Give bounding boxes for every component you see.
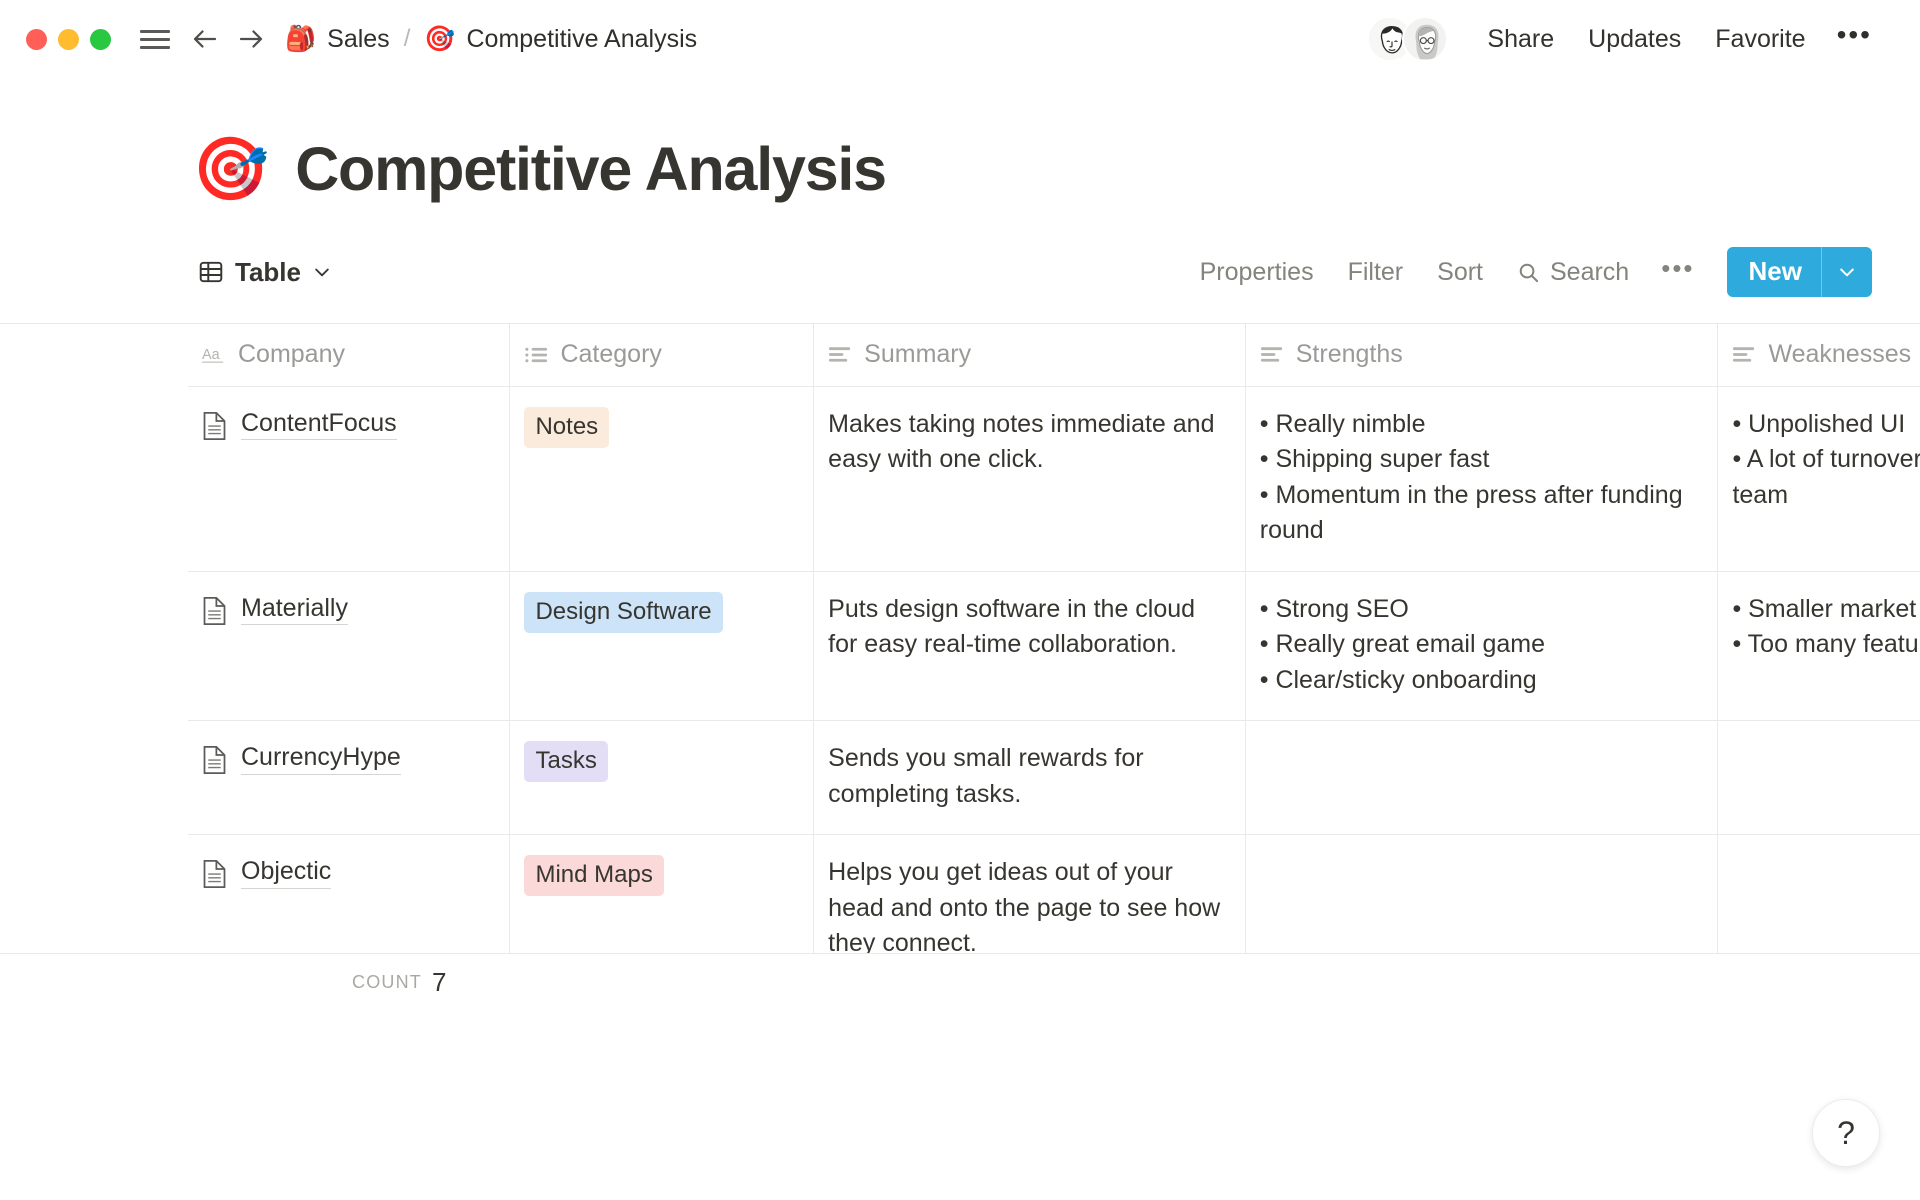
page-dartboard-icon[interactable]: 🎯 <box>192 139 269 201</box>
cell-category[interactable]: Design Software <box>510 571 814 721</box>
database-toolbar: Table Properties Filter Sort Search ••• <box>0 203 1920 297</box>
search-icon <box>1517 261 1540 284</box>
avatar-face-icon <box>1404 18 1448 62</box>
properties-button[interactable]: Properties <box>1186 251 1328 294</box>
count-label: Count <box>352 972 422 993</box>
cell-weaknesses[interactable]: • Smaller market • Too many features for… <box>1718 571 1920 721</box>
breadcrumb-item-competitive-analysis[interactable]: 🎯 Competitive Analysis <box>424 25 697 54</box>
category-tag: Notes <box>524 407 609 448</box>
text-lines-icon <box>1260 344 1285 366</box>
column-header-summary[interactable]: Summary <box>814 324 1246 386</box>
table-header: Aa Company <box>188 324 1920 386</box>
sort-button[interactable]: Sort <box>1423 251 1497 294</box>
breadcrumb-separator: / <box>402 25 413 53</box>
minimize-window-button[interactable] <box>58 29 79 50</box>
title-text-icon: Aa <box>202 344 227 366</box>
cell-company[interactable]: ContentFocus <box>188 386 510 571</box>
new-record-label: New <box>1727 247 1821 297</box>
table-row[interactable]: Materially Design Software Puts design s… <box>188 571 1920 721</box>
search-button[interactable]: Search <box>1503 251 1643 294</box>
cell-summary[interactable]: Sends you small rewards for completing t… <box>814 721 1246 835</box>
topbar-actions: Share Updates Favorite ••• <box>1367 16 1886 62</box>
column-header-company[interactable]: Aa Company <box>188 324 510 386</box>
chevron-down-icon <box>1837 262 1857 282</box>
zoom-window-button[interactable] <box>90 29 111 50</box>
database-table-container: Aa Company <box>0 323 1920 1011</box>
arrow-right-icon <box>236 24 266 54</box>
column-header-weaknesses[interactable]: Weaknesses <box>1718 324 1920 386</box>
page-content: 🎯 Competitive Analysis Table Properties … <box>0 78 1920 1011</box>
cell-company[interactable]: Materially <box>188 571 510 721</box>
updates-button[interactable]: Updates <box>1571 17 1698 62</box>
cell-strengths[interactable] <box>1245 721 1718 835</box>
count-value: 7 <box>432 967 446 998</box>
breadcrumb-label-sales: Sales <box>327 25 390 54</box>
breadcrumb: 🎒 Sales / 🎯 Competitive Analysis <box>285 25 697 54</box>
database-table: Aa Company <box>188 324 1920 1011</box>
cell-weaknesses[interactable]: • Unpolished UI • A lot of turnover on t… <box>1718 386 1920 571</box>
cell-strengths[interactable]: • Strong SEO • Really great email game •… <box>1245 571 1718 721</box>
column-label-company: Company <box>238 340 345 369</box>
cell-strengths[interactable]: • Really nimble • Shipping super fast • … <box>1245 386 1718 571</box>
table-row[interactable]: ContentFocus Notes Makes taking notes im… <box>188 386 1920 571</box>
column-header-strengths[interactable]: Strengths <box>1245 324 1718 386</box>
window-titlebar: 🎒 Sales / 🎯 Competitive Analysis <box>0 0 1920 78</box>
table-body: ContentFocus Notes Makes taking notes im… <box>188 386 1920 1011</box>
page-icon <box>202 745 227 775</box>
text-lines-icon <box>1732 344 1757 366</box>
table-header-row: Aa Company <box>188 324 1920 386</box>
toolbar-more-button[interactable]: ••• <box>1649 257 1706 287</box>
column-label-weaknesses: Weaknesses <box>1768 340 1911 369</box>
cell-weaknesses[interactable] <box>1718 721 1920 835</box>
sidebar-toggle-button[interactable] <box>135 19 175 59</box>
page-title[interactable]: Competitive Analysis <box>295 136 886 203</box>
avatar-user-2[interactable] <box>1402 16 1448 62</box>
company-link[interactable]: ContentFocus <box>241 407 397 441</box>
company-link[interactable]: Objectic <box>241 855 331 889</box>
category-tag: Tasks <box>524 741 607 782</box>
table-icon <box>198 259 224 285</box>
breadcrumb-item-sales[interactable]: 🎒 Sales <box>285 25 390 54</box>
column-label-category: Category <box>560 340 661 369</box>
cell-category[interactable]: Tasks <box>510 721 814 835</box>
cell-summary[interactable]: Makes taking notes immediate and easy wi… <box>814 386 1246 571</box>
view-tab-label: Table <box>235 257 301 288</box>
table-footer: Count 7 <box>0 953 1920 1011</box>
page-icon <box>202 411 227 441</box>
page-header: 🎯 Competitive Analysis <box>0 78 1920 203</box>
new-record-button[interactable]: New <box>1727 247 1872 297</box>
chevron-down-icon <box>312 262 332 282</box>
app-window: 🎒 Sales / 🎯 Competitive Analysis <box>0 0 1920 1200</box>
cell-category[interactable]: Notes <box>510 386 814 571</box>
search-label: Search <box>1550 258 1629 287</box>
page-icon <box>202 596 227 626</box>
toolbar-actions: Properties Filter Sort Search ••• New <box>1186 247 1872 297</box>
back-button[interactable] <box>185 19 225 59</box>
share-button[interactable]: Share <box>1470 17 1571 62</box>
company-link[interactable]: CurrencyHype <box>241 741 401 775</box>
category-tag: Design Software <box>524 592 722 633</box>
help-button[interactable]: ? <box>1812 1099 1880 1167</box>
column-label-strengths: Strengths <box>1296 340 1403 369</box>
select-list-icon <box>524 344 549 366</box>
column-header-category[interactable]: Category <box>510 324 814 386</box>
traffic-lights <box>26 29 111 50</box>
cell-company[interactable]: CurrencyHype <box>188 721 510 835</box>
company-link[interactable]: Materially <box>241 592 348 626</box>
view-tab-table[interactable]: Table <box>188 251 342 294</box>
category-tag: Mind Maps <box>524 855 663 896</box>
backpack-icon: 🎒 <box>285 27 316 52</box>
column-label-summary: Summary <box>864 340 971 369</box>
more-options-button[interactable]: ••• <box>1823 21 1886 57</box>
table-row[interactable]: CurrencyHype Tasks Sends you small rewar… <box>188 721 1920 835</box>
collaborator-avatars[interactable] <box>1367 16 1448 62</box>
new-record-dropdown-button[interactable] <box>1822 247 1872 297</box>
breadcrumb-label-competitive-analysis: Competitive Analysis <box>467 25 698 54</box>
favorite-button[interactable]: Favorite <box>1698 17 1822 62</box>
nav-arrows <box>185 19 271 59</box>
filter-button[interactable]: Filter <box>1334 251 1418 294</box>
cell-summary[interactable]: Puts design software in the cloud for ea… <box>814 571 1246 721</box>
dartboard-icon: 🎯 <box>424 27 455 52</box>
hamburger-icon <box>140 25 170 54</box>
forward-button[interactable] <box>231 19 271 59</box>
page-icon <box>202 859 227 889</box>
arrow-left-icon <box>190 24 220 54</box>
text-lines-icon <box>828 344 853 366</box>
svg-text:Aa: Aa <box>202 346 221 362</box>
close-window-button[interactable] <box>26 29 47 50</box>
